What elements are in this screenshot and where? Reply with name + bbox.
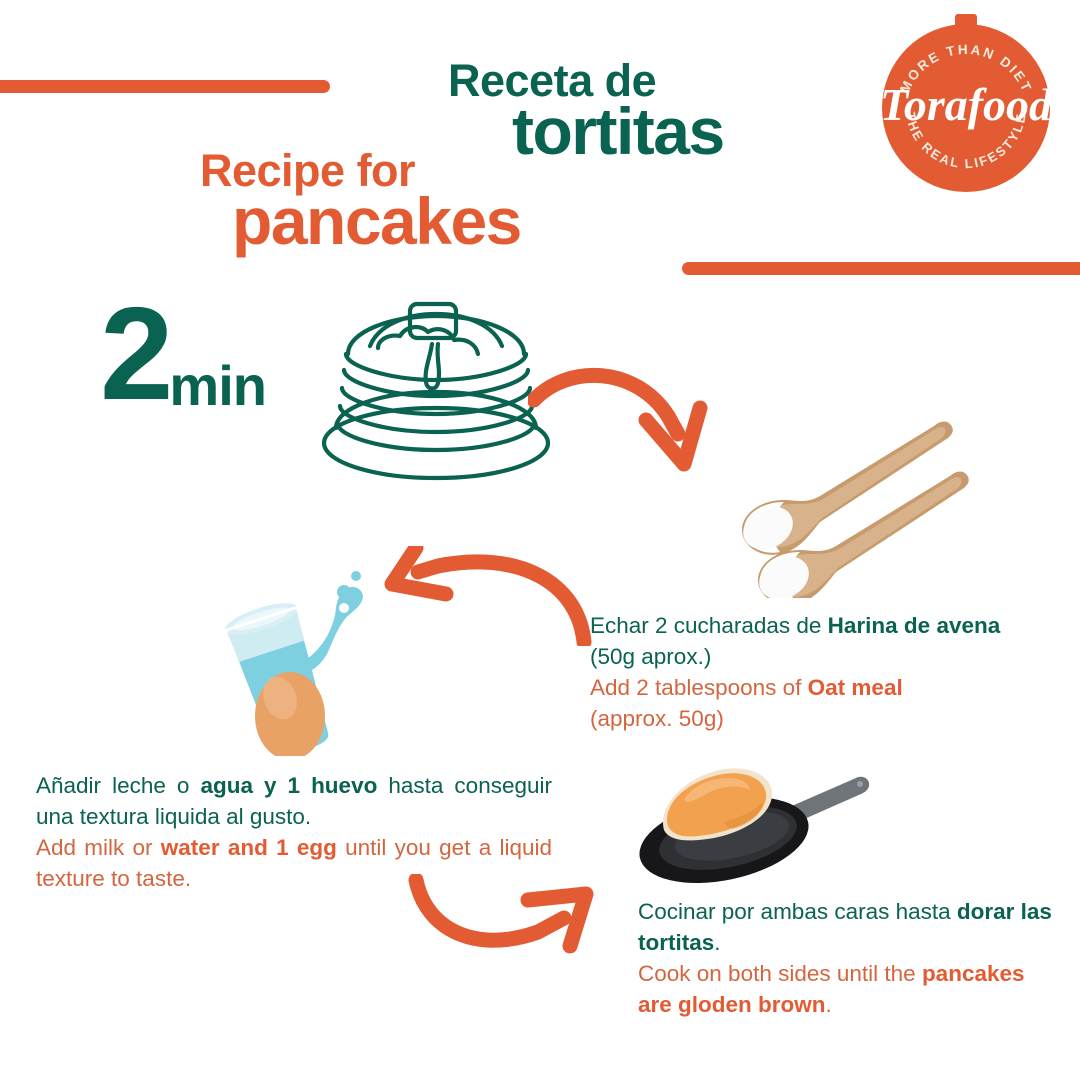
step-2-english: Add milk or water and 1 egg until you ge… (36, 832, 552, 894)
arrow-step2-icon (378, 546, 594, 646)
step-3-english: Cook on both sides until the pancakes ar… (638, 958, 1062, 1020)
step-1-spanish: Echar 2 cucharadas de Harina de avena (5… (590, 610, 1040, 672)
logo-wordmark: Torafood (880, 79, 1053, 130)
title-spanish-line2: tortitas (512, 98, 724, 164)
decorative-bar-right (682, 262, 1080, 275)
decorative-bar-left (0, 80, 330, 93)
prep-time: 2 min (100, 288, 266, 420)
prep-time-unit: min (169, 358, 266, 420)
recipe-poster: Receta de tortitas Recipe for pancakes 2… (0, 0, 1080, 1080)
step-1-text: Echar 2 cucharadas de Harina de avena (5… (590, 610, 1040, 734)
torafood-logo: MORE THAN DIET THE REAL LIFESTYLE Torafo… (874, 12, 1058, 194)
step-3-text: Cocinar por ambas caras hasta dorar las … (638, 896, 1062, 1020)
frying-pan-illustration (628, 756, 876, 884)
step-2-spanish: Añadir leche o agua y 1 huevo hasta cons… (36, 770, 552, 832)
milk-and-egg-illustration (216, 556, 378, 756)
arrow-step1-icon (528, 360, 740, 472)
title-english-line2: pancakes (232, 188, 521, 254)
wooden-spoons-illustration (700, 418, 972, 598)
step-1-english: Add 2 tablespoons of Oat meal (approx. 5… (590, 672, 1040, 734)
step-2-text: Añadir leche o agua y 1 huevo hasta cons… (36, 770, 552, 894)
prep-time-value: 2 (100, 288, 169, 420)
step-3-spanish: Cocinar por ambas caras hasta dorar las … (638, 896, 1062, 958)
